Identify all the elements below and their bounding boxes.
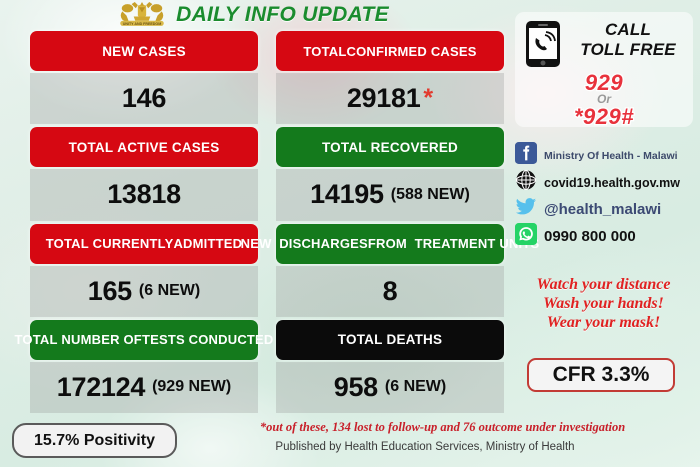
- toll-free-card: CALLTOLL FREE 929 Or *929#: [515, 12, 693, 127]
- social-link-label: Ministry Of Health - Malawi: [544, 150, 678, 162]
- stat-card-value: 146: [122, 83, 166, 114]
- social-link-twitter[interactable]: @health_malawi: [515, 196, 700, 223]
- stat-card-value: 14195: [310, 179, 384, 210]
- stat-card-label: TOTAL NUMBER OFTESTS CONDUCTED: [30, 320, 258, 360]
- stat-card-value: 958: [334, 372, 378, 403]
- social-link-label: 0990 800 000: [544, 228, 636, 245]
- stat-card: TOTAL NUMBER OFTESTS CONDUCTED172124(929…: [30, 320, 258, 413]
- stat-card-label: TOTAL DEATHS: [276, 320, 504, 360]
- stat-card-label: NEW CASES: [30, 31, 258, 71]
- stat-card: TOTAL RECOVERED14195(588 NEW): [276, 127, 504, 220]
- stat-card-label: TOTAL RECOVERED: [276, 127, 504, 167]
- stat-card-value: 172124: [57, 372, 145, 403]
- whatsapp-icon: [515, 223, 537, 250]
- social-link-label: @health_malawi: [544, 201, 661, 218]
- stat-card-label: NEW DISCHARGESFROM TREATMENT UNITS: [276, 224, 504, 264]
- stat-card: NEW CASES146: [30, 31, 258, 124]
- mobile-phone-ringing-icon: [525, 20, 561, 68]
- stat-card: TOTALCONFIRMED CASES29181*: [276, 31, 504, 124]
- stat-card-sub-value: (929 NEW): [152, 378, 231, 396]
- stat-card-value-row: 165(6 NEW): [30, 266, 258, 317]
- stat-card-label: TOTAL CURRENTLYADMITTED: [30, 224, 258, 264]
- footnote-text: *out of these, 134 lost to follow-up and…: [185, 420, 700, 435]
- stat-card-value: 13818: [107, 179, 181, 210]
- header: UNITY AND FREEDOM DAILY INFO UPDATE: [0, 0, 505, 30]
- info-sidebar: CALLTOLL FREE 929 Or *929# Ministry Of H…: [507, 0, 700, 467]
- social-links-list: Ministry Of Health - Malawicovid19.healt…: [515, 142, 700, 250]
- globe-website-icon: [515, 169, 537, 196]
- cfr-badge: CFR 3.3%: [527, 358, 675, 392]
- facebook-icon: [515, 142, 537, 169]
- crest-motto: UNITY AND FREEDOM: [123, 22, 162, 26]
- stat-card-label: TOTALCONFIRMED CASES: [276, 31, 504, 71]
- positivity-badge: 15.7% Positivity: [12, 423, 177, 458]
- twitter-icon: [515, 196, 537, 223]
- stat-card-sub-value: (588 NEW): [391, 186, 470, 204]
- stats-grid: NEW CASES146TOTALCONFIRMED CASES29181*TO…: [30, 31, 506, 413]
- toll-free-label: CALLTOLL FREE: [567, 20, 689, 60]
- prevention-slogan: Watch your distanceWash your hands!Wear …: [507, 275, 700, 332]
- stat-card-sub-value: (6 NEW): [385, 378, 446, 396]
- social-link-label: covid19.health.gov.mw: [544, 176, 680, 190]
- stat-card: TOTAL CURRENTLYADMITTED165(6 NEW): [30, 224, 258, 317]
- stat-card: TOTAL DEATHS958(6 NEW): [276, 320, 504, 413]
- published-by-text: Published by Health Education Services, …: [185, 441, 665, 453]
- malawi-coat-of-arms-icon: UNITY AND FREEDOM: [116, 1, 168, 29]
- footnote-asterisk-icon: *: [423, 86, 433, 111]
- stat-card-value-row: 29181*: [276, 73, 504, 124]
- social-link-facebook[interactable]: Ministry Of Health - Malawi: [515, 142, 700, 169]
- stat-card: NEW DISCHARGESFROM TREATMENT UNITS8: [276, 224, 504, 317]
- stat-card-value-row: 13818: [30, 169, 258, 220]
- stat-card-value-row: 146: [30, 73, 258, 124]
- stat-card-value: 29181: [347, 83, 421, 114]
- stat-card-value-row: 172124(929 NEW): [30, 362, 258, 413]
- stat-card-label: TOTAL ACTIVE CASES: [30, 127, 258, 167]
- stat-card-value-row: 8: [276, 266, 504, 317]
- stat-card: TOTAL ACTIVE CASES13818: [30, 127, 258, 220]
- page-title: DAILY INFO UPDATE: [176, 3, 389, 27]
- stat-card-value: 165: [88, 276, 132, 307]
- social-link-globe-website[interactable]: covid19.health.gov.mw: [515, 169, 700, 196]
- stat-card-value: 8: [383, 276, 398, 307]
- stat-card-value-row: 958(6 NEW): [276, 362, 504, 413]
- stat-card-value-row: 14195(588 NEW): [276, 169, 504, 220]
- toll-free-number-secondary[interactable]: *929#: [515, 104, 693, 130]
- stat-card-sub-value: (6 NEW): [139, 282, 200, 300]
- social-link-whatsapp[interactable]: 0990 800 000: [515, 223, 700, 250]
